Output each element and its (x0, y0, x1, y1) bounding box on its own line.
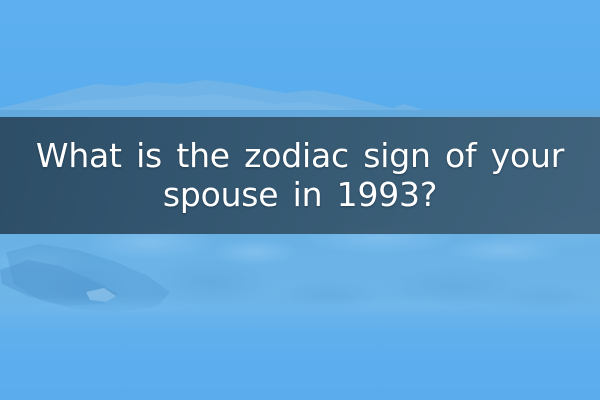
quiz-card: What is the zodiac sign of your spouse i… (0, 0, 600, 400)
caption-overlay-band: What is the zodiac sign of your spouse i… (0, 117, 600, 234)
question-text: What is the zodiac sign of your spouse i… (30, 137, 570, 215)
water-region (0, 312, 600, 400)
